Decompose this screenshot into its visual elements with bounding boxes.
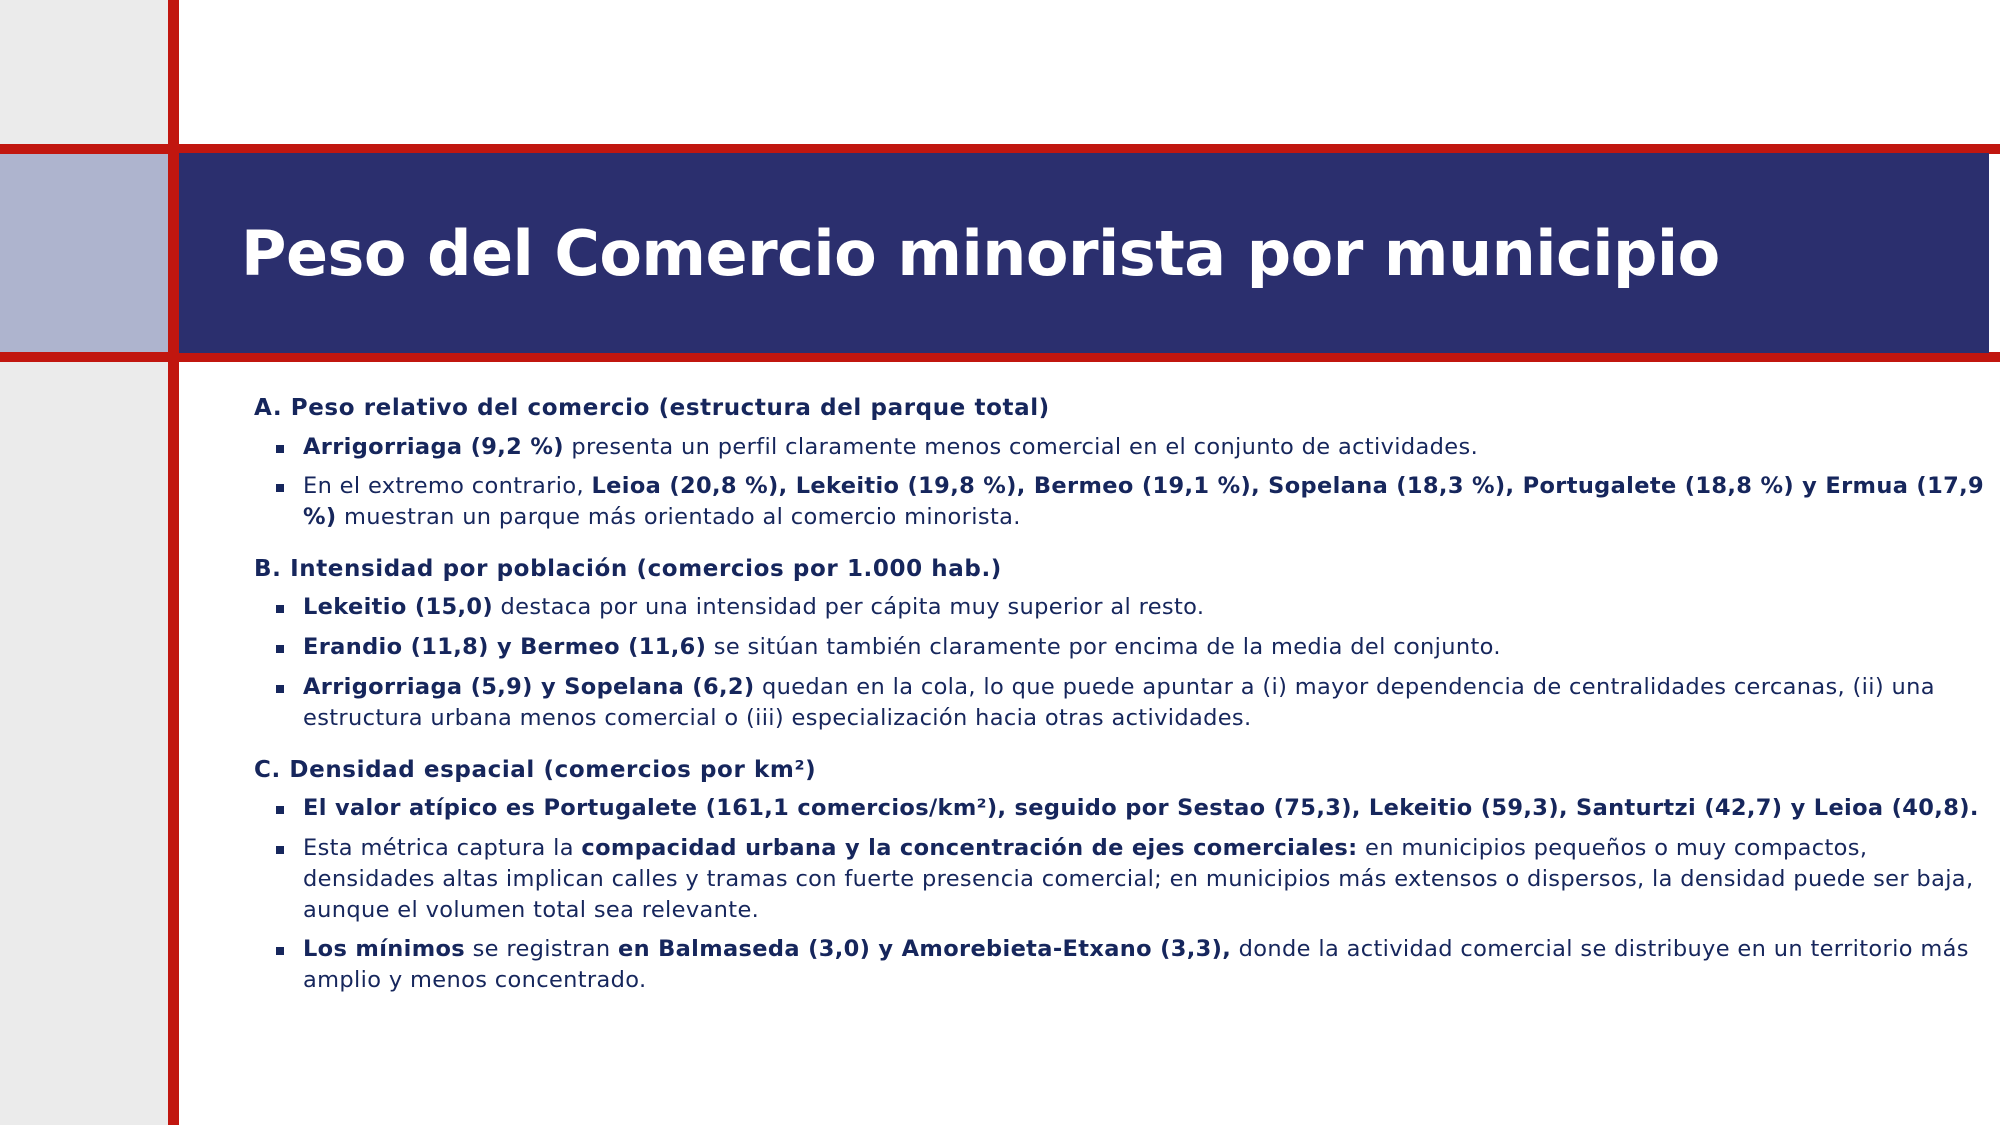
section-heading: B. Intensidad por población (comercios p… bbox=[254, 555, 1988, 584]
left-accent-block bbox=[0, 152, 168, 357]
content-section: C. Densidad espacial (comercios por km²)… bbox=[247, 756, 1988, 996]
text-run-bold: Erandio (11,8) y Bermeo (11,6) bbox=[303, 634, 706, 660]
text-run: destaca por una intensidad per cápita mu… bbox=[493, 594, 1204, 620]
slide: Peso del Comercio minorista por municipi… bbox=[0, 0, 2000, 1125]
square-bullet-icon bbox=[276, 806, 284, 814]
text-run-bold: en Balmaseda (3,0) y Amorebieta-Etxano (… bbox=[618, 936, 1231, 962]
square-bullet-icon bbox=[276, 605, 284, 613]
square-bullet-icon bbox=[276, 947, 284, 955]
divider-rule-bottom bbox=[0, 352, 2000, 362]
bullet-item: Lekeitio (15,0) destaca por una intensid… bbox=[247, 592, 1988, 623]
section-heading: A. Peso relativo del comercio (estructur… bbox=[254, 394, 1988, 423]
bullet-item: El valor atípico es Portugalete (161,1 c… bbox=[247, 793, 1988, 824]
text-run-bold: Arrigorriaga (5,9) y Sopelana (6,2) bbox=[303, 674, 754, 700]
square-bullet-icon bbox=[276, 685, 284, 693]
bullet-text: Arrigorriaga (5,9) y Sopelana (6,2) qued… bbox=[303, 674, 1935, 731]
text-run: muestran un parque más orientado al come… bbox=[337, 504, 1021, 530]
bullet-item: En el extremo contrario, Leioa (20,8 %),… bbox=[247, 471, 1988, 533]
bullet-text: En el extremo contrario, Leioa (20,8 %),… bbox=[303, 473, 1984, 530]
text-run: se registran bbox=[465, 936, 618, 962]
divider-rule-vertical bbox=[168, 0, 179, 1125]
bullet-list: El valor atípico es Portugalete (161,1 c… bbox=[247, 793, 1988, 996]
bullet-text: Erandio (11,8) y Bermeo (11,6) se sitúan… bbox=[303, 634, 1501, 660]
bullet-text: El valor atípico es Portugalete (161,1 c… bbox=[303, 795, 1979, 821]
bullet-item: Los mínimos se registran en Balmaseda (3… bbox=[247, 934, 1988, 996]
square-bullet-icon bbox=[276, 484, 284, 492]
bullet-item: Erandio (11,8) y Bermeo (11,6) se sitúan… bbox=[247, 632, 1988, 663]
content-section: A. Peso relativo del comercio (estructur… bbox=[247, 394, 1988, 533]
bullet-text: Esta métrica captura la compacidad urban… bbox=[303, 835, 1973, 923]
text-run: En el extremo contrario, bbox=[303, 473, 591, 499]
content-section: B. Intensidad por población (comercios p… bbox=[247, 555, 1988, 734]
square-bullet-icon bbox=[276, 445, 284, 453]
bullet-item: Esta métrica captura la compacidad urban… bbox=[247, 833, 1988, 925]
bullet-text: Arrigorriaga (9,2 %) presenta un perfil … bbox=[303, 434, 1478, 460]
bullet-list: Lekeitio (15,0) destaca por una intensid… bbox=[247, 592, 1988, 733]
text-run-bold: compacidad urbana y la concentración de … bbox=[581, 835, 1357, 861]
text-run: presenta un perfil claramente menos come… bbox=[564, 434, 1478, 460]
slide-body: A. Peso relativo del comercio (estructur… bbox=[179, 362, 2000, 1125]
text-run-bold: Arrigorriaga (9,2 %) bbox=[303, 434, 564, 460]
text-run-bold: El valor atípico es Portugalete (161,1 c… bbox=[303, 795, 1979, 821]
text-run-bold: Los mínimos bbox=[303, 936, 465, 962]
page-title: Peso del Comercio minorista por municipi… bbox=[241, 217, 1720, 290]
square-bullet-icon bbox=[276, 645, 284, 653]
text-run: se sitúan también claramente por encima … bbox=[706, 634, 1501, 660]
sections-container: A. Peso relativo del comercio (estructur… bbox=[247, 394, 1988, 996]
bullet-text: Lekeitio (15,0) destaca por una intensid… bbox=[303, 594, 1204, 620]
bullet-item: Arrigorriaga (9,2 %) presenta un perfil … bbox=[247, 432, 1988, 463]
bullet-item: Arrigorriaga (5,9) y Sopelana (6,2) qued… bbox=[247, 672, 1988, 734]
bullet-text: Los mínimos se registran en Balmaseda (3… bbox=[303, 936, 1969, 993]
bullet-list: Arrigorriaga (9,2 %) presenta un perfil … bbox=[247, 432, 1988, 533]
text-run: Esta métrica captura la bbox=[303, 835, 581, 861]
text-run-bold: Lekeitio (15,0) bbox=[303, 594, 493, 620]
section-heading: C. Densidad espacial (comercios por km²) bbox=[254, 756, 1988, 785]
title-bar: Peso del Comercio minorista por municipi… bbox=[179, 153, 1989, 353]
square-bullet-icon bbox=[276, 846, 284, 854]
